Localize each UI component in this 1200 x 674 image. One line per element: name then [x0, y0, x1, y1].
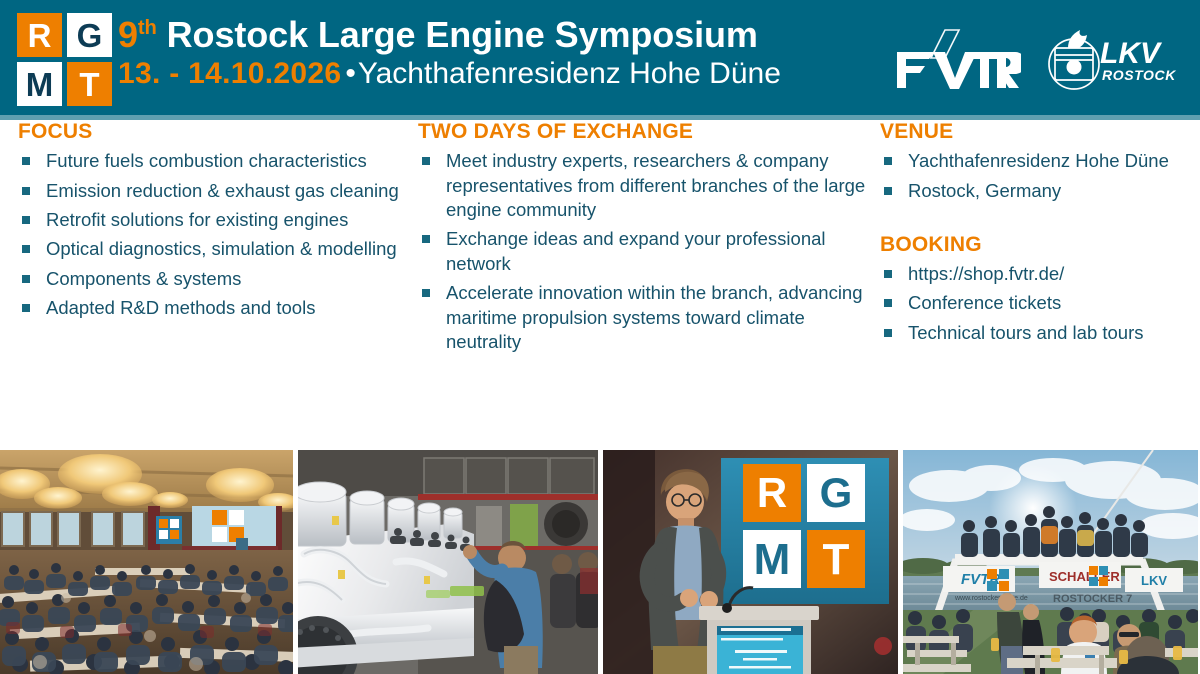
square-bullet-icon	[422, 157, 430, 165]
square-bullet-icon	[884, 299, 892, 307]
list-item: Conference tickets	[880, 291, 1190, 315]
svg-text:www.rostocker-flotte.de: www.rostocker-flotte.de	[954, 595, 1028, 602]
list-item-label: Adapted R&D methods and tools	[46, 297, 315, 318]
column-exchange: TWO DAYS OF EXCHANGE Meet industry exper…	[418, 120, 868, 359]
square-bullet-icon	[22, 157, 30, 165]
page-title: 9th Rostock Large Engine Symposium	[118, 16, 858, 53]
list-item: Yachthafenresidenz Hohe Düne	[880, 149, 1190, 173]
svg-text:M: M	[754, 535, 791, 584]
square-bullet-icon	[22, 304, 30, 312]
square-bullet-icon	[22, 216, 30, 224]
edition-ordinal: 9th	[118, 14, 157, 55]
list-item-label: Technical tours and lab tours	[908, 322, 1144, 343]
square-bullet-icon	[884, 270, 892, 278]
heading-booking: BOOKING	[880, 233, 1190, 256]
logo-tile-t: T	[67, 62, 112, 106]
logo-tile-g: G	[67, 13, 112, 57]
list-item-label: Meet industry experts, researchers & com…	[446, 150, 865, 220]
photo-strip: R G M T	[0, 450, 1200, 674]
list-item: Technical tours and lab tours	[880, 321, 1190, 345]
svg-text:LKV: LKV	[1141, 573, 1167, 588]
column-venue-booking: VENUE Yachthafenresidenz Hohe Düne Rosto…	[880, 120, 1190, 350]
logo-tile-m: M	[17, 62, 62, 106]
square-bullet-icon	[884, 329, 892, 337]
list-item-label: Optical diagnostics, simulation & modell…	[46, 238, 397, 259]
list-item: Emission reduction & exhaust gas cleanin…	[18, 179, 408, 203]
list-item: Meet industry experts, researchers & com…	[418, 149, 868, 222]
title-block: 9th Rostock Large Engine Symposium 13. -…	[118, 16, 858, 90]
list-item: Accelerate innovation within the branch,…	[418, 281, 868, 354]
list-item-label: Emission reduction & exhaust gas cleanin…	[46, 180, 399, 201]
focus-list: Future fuels combustion characteristics …	[18, 149, 408, 320]
list-item-label: Rostock, Germany	[908, 180, 1061, 201]
event-date: 13. - 14.10.2026	[118, 57, 341, 90]
list-item-label: Yachthafenresidenz Hohe Düne	[908, 150, 1169, 171]
header-banner: R G M T 9th Rostock Large Engine Symposi…	[0, 0, 1200, 115]
list-item: Exchange ideas and expand your professio…	[418, 227, 868, 276]
heading-venue: VENUE	[880, 120, 1190, 143]
heading-focus: FOCUS	[18, 120, 408, 143]
photo-large-engine	[298, 450, 598, 674]
svg-text:ROSTOCKER 7: ROSTOCKER 7	[1053, 593, 1132, 605]
list-item: Future fuels combustion characteristics	[18, 149, 408, 173]
edition-suffix: th	[138, 17, 157, 39]
photo-speaker-lectern: R G M T	[603, 450, 898, 674]
square-bullet-icon	[22, 275, 30, 283]
list-item: Retrofit solutions for existing engines	[18, 208, 408, 232]
photo-conference-hall	[0, 450, 293, 674]
event-venue: Yachthafenresidenz Hohe Düne	[358, 57, 781, 90]
separator-dot: •	[345, 57, 356, 90]
edition-number: 9	[118, 14, 138, 55]
heading-exchange: TWO DAYS OF EXCHANGE	[418, 120, 868, 143]
fvtr-logo	[893, 28, 1021, 90]
list-item-label: Accelerate innovation within the branch,…	[446, 282, 863, 352]
list-item: https://shop.fvtr.de/	[880, 262, 1190, 286]
square-bullet-icon	[22, 245, 30, 253]
list-item: Components & systems	[18, 267, 408, 291]
svg-text:ROSTOCK: ROSTOCK	[1102, 67, 1176, 83]
booking-list: https://shop.fvtr.de/ Conference tickets…	[880, 262, 1190, 345]
list-item: Adapted R&D methods and tools	[18, 296, 408, 320]
svg-text:G: G	[820, 469, 853, 516]
list-item-label: Conference tickets	[908, 292, 1061, 313]
square-bullet-icon	[884, 157, 892, 165]
column-focus: FOCUS Future fuels combustion characteri…	[18, 120, 408, 326]
title-text: Rostock Large Engine Symposium	[167, 14, 758, 55]
list-item: Rostock, Germany	[880, 179, 1190, 203]
square-bullet-icon	[422, 235, 430, 243]
svg-text:R: R	[757, 469, 787, 516]
square-bullet-icon	[22, 187, 30, 195]
content-columns: FOCUS Future fuels combustion characteri…	[0, 120, 1200, 450]
svg-text:SCHALLER: SCHALLER	[1049, 569, 1120, 584]
svg-text:LKV: LKV	[1100, 37, 1163, 70]
list-item-label: Components & systems	[46, 268, 241, 289]
symposium-flyer: R G M T 9th Rostock Large Engine Symposi…	[0, 0, 1200, 674]
square-bullet-icon	[422, 289, 430, 297]
list-item-label: Future fuels combustion characteristics	[46, 150, 367, 171]
square-bullet-icon	[884, 187, 892, 195]
list-item-label: Retrofit solutions for existing engines	[46, 209, 348, 230]
exchange-list: Meet industry experts, researchers & com…	[418, 149, 868, 354]
logo-tile-r: R	[17, 13, 62, 57]
subtitle: 13. - 14.10.2026•Yachthafenresidenz Hohe…	[118, 58, 858, 90]
venue-list: Yachthafenresidenz Hohe Düne Rostock, Ge…	[880, 149, 1190, 203]
booking-shop-link[interactable]: https://shop.fvtr.de/	[908, 263, 1064, 284]
list-item: Optical diagnostics, simulation & modell…	[18, 237, 408, 261]
svg-text:T: T	[823, 535, 850, 584]
lkv-logo: LKV ROSTOCK	[1038, 26, 1184, 92]
rgmt-logo: R G M T	[17, 13, 113, 105]
photo-boat-networking: FVTR SCHALLER LKV www.rostocker-flotte.d…	[903, 450, 1198, 674]
list-item-label: Exchange ideas and expand your professio…	[446, 228, 826, 273]
